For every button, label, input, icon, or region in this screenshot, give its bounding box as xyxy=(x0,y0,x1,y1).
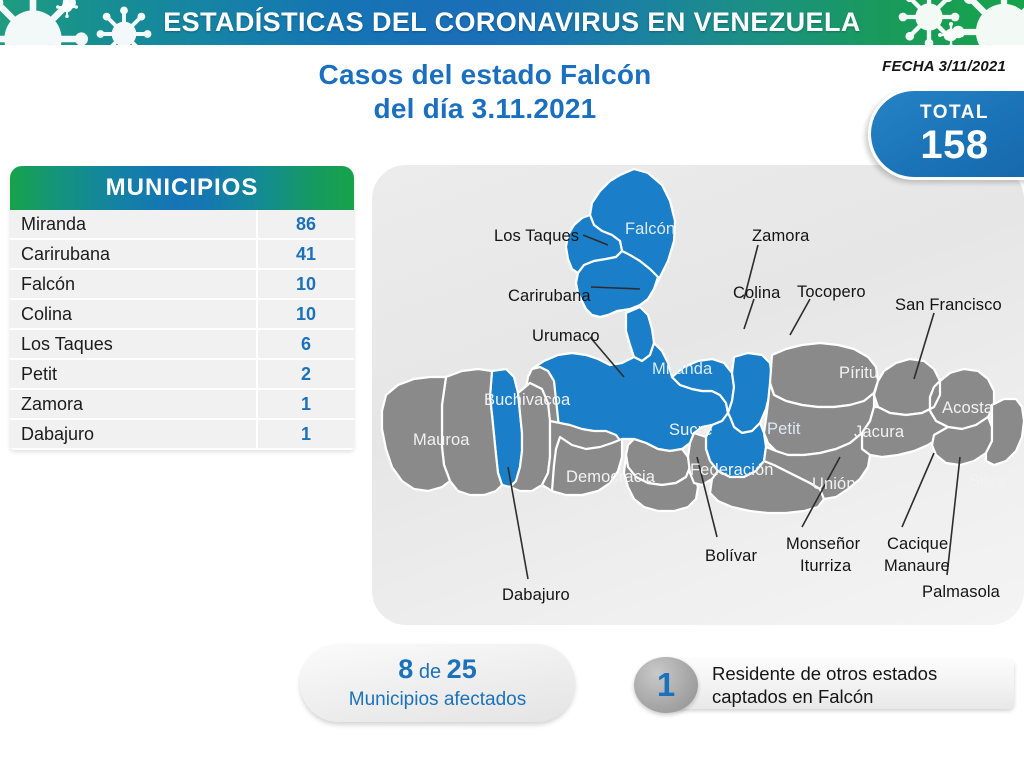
municipio-name: Zamora xyxy=(10,394,256,415)
report-title: Casos del estado Falcón del día 3.11.202… xyxy=(250,58,720,126)
map-label-falcon: Falcón xyxy=(625,220,675,238)
report-title-line1: Casos del estado Falcón xyxy=(250,58,720,92)
map-label-urumaco: Urumaco xyxy=(532,327,600,345)
map-label-cacique: Cacique xyxy=(887,535,948,553)
municipio-name: Colina xyxy=(10,304,256,325)
header-divider xyxy=(0,45,1024,48)
municipio-value: 1 xyxy=(256,390,354,418)
map-label-carirubana: Carirubana xyxy=(508,287,591,305)
total-municipalities: 25 xyxy=(447,654,477,684)
de-word: de xyxy=(413,661,446,683)
table-row: Falcón 10 xyxy=(10,270,354,300)
table-row: Dabajuro 1 xyxy=(10,420,354,450)
map-label-tocopero: Tocopero xyxy=(797,283,866,301)
map-label-dabajuro: Dabajuro xyxy=(502,586,570,604)
municipio-name: Dabajuro xyxy=(10,424,256,445)
municipio-value: 1 xyxy=(256,420,354,448)
map-label-miranda: Miranda xyxy=(652,360,712,378)
municipio-value: 2 xyxy=(256,360,354,388)
municipio-name: Petit xyxy=(10,364,256,385)
map-label-mauroa: Mauroa xyxy=(413,431,470,449)
page-header: ESTADÍSTICAS DEL CORONAVIRUS EN VENEZUEL… xyxy=(0,0,1024,45)
map-shapes xyxy=(372,165,1024,625)
affected-ratio: 8 de 25 xyxy=(398,654,476,688)
map-label-manaure: Manaure xyxy=(884,557,950,575)
municipio-value: 41 xyxy=(256,240,354,268)
map-label-colina: Colina xyxy=(733,284,780,302)
falcon-map: Los Taques Carirubana Zamora Tocopero Co… xyxy=(372,165,1024,625)
municipio-name: Los Taques xyxy=(10,334,256,355)
residents-count-circle: 1 xyxy=(634,657,698,713)
report-date: FECHA 3/11/2021 xyxy=(882,58,1006,75)
municipios-table: MUNICIPIOS Miranda 86 Carirubana 41 Falc… xyxy=(10,166,354,450)
report-title-line2: del día 3.11.2021 xyxy=(250,92,720,126)
residents-text-line1: Residente de otros estados xyxy=(712,662,1012,685)
table-row: Los Taques 6 xyxy=(10,330,354,360)
affected-municipalities-badge: 8 de 25 Municipios afectados xyxy=(300,644,575,722)
map-label-bolivar: Bolívar xyxy=(705,547,757,565)
residents-count: 1 xyxy=(657,668,675,702)
map-label-democracia: Democracia xyxy=(566,468,655,486)
municipio-value: 86 xyxy=(256,210,354,238)
municipio-name: Miranda xyxy=(10,214,256,235)
residents-text: Residente de otros estados captados en F… xyxy=(712,661,1012,709)
total-badge: TOTAL 158 xyxy=(868,88,1024,180)
total-value: 158 xyxy=(920,124,988,166)
map-label-monsenor: Monseñor xyxy=(786,535,860,553)
map-label-federacion: Federación xyxy=(690,461,774,479)
municipio-value: 10 xyxy=(256,270,354,298)
map-label-petit: Petit xyxy=(767,420,801,438)
table-row: Zamora 1 xyxy=(10,390,354,420)
map-label-buchivacoa: Buchivacoa xyxy=(484,391,570,409)
table-row: Petit 2 xyxy=(10,360,354,390)
total-label: TOTAL xyxy=(920,102,989,124)
municipio-value: 10 xyxy=(256,300,354,328)
table-row: Colina 10 xyxy=(10,300,354,330)
municipios-table-header: MUNICIPIOS xyxy=(10,166,354,210)
map-label-zamora: Zamora xyxy=(752,227,809,245)
affected-label: Municipios afectados xyxy=(349,688,526,712)
map-label-acosta: Acosta xyxy=(942,399,993,417)
municipio-name: Falcón xyxy=(10,274,256,295)
map-label-piritu: Píritu xyxy=(839,364,878,382)
municipio-name: Carirubana xyxy=(10,244,256,265)
affected-count: 8 xyxy=(398,654,413,684)
map-label-los-taques: Los Taques xyxy=(494,227,579,245)
map-label-iturriza: Iturriza xyxy=(800,557,851,575)
map-label-san-francisco: San Francisco xyxy=(895,296,1002,314)
map-label-jacura: Jacura xyxy=(854,423,904,441)
map-label-silva: Silva xyxy=(969,472,1005,490)
map-label-palmasola: Palmasola xyxy=(922,583,1000,601)
table-row: Miranda 86 xyxy=(10,210,354,240)
table-row: Carirubana 41 xyxy=(10,240,354,270)
page-title: ESTADÍSTICAS DEL CORONAVIRUS EN VENEZUEL… xyxy=(0,0,1024,45)
map-label-union: Unión xyxy=(812,475,856,493)
residents-badge: 1 Residente de otros estados captados en… xyxy=(634,657,1014,713)
municipio-value: 6 xyxy=(256,330,354,358)
residents-text-line2: captados en Falcón xyxy=(712,685,1012,708)
map-label-sucre: Sucre xyxy=(669,421,713,439)
